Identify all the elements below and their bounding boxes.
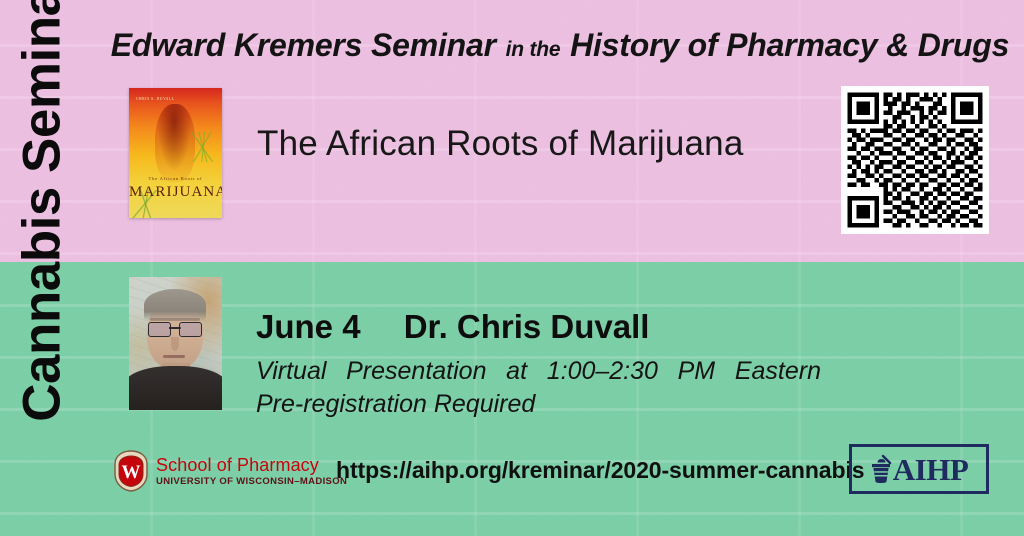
cannabis-leaf-icon bbox=[190, 132, 220, 162]
uw-logo-text: School of Pharmacy UNIVERSITY OF WISCONS… bbox=[156, 456, 347, 487]
eyeglasses-icon bbox=[148, 322, 202, 335]
portrait-hair bbox=[144, 289, 206, 321]
speaker-name: Dr. Chris Duvall bbox=[404, 308, 650, 345]
page-title-connector: in the bbox=[505, 38, 562, 61]
series-vertical-title: Cannabis Seminar bbox=[16, 0, 69, 425]
page-title: Edward Kremers Seminar in the History of… bbox=[100, 27, 1020, 64]
event-detail-line-1: VirtualPresentationat1:00–2:30PMEastern bbox=[256, 357, 821, 386]
uw-crest-letter: W bbox=[122, 462, 141, 483]
event-detail-word-5: Eastern bbox=[735, 357, 821, 386]
book-cover-author: CHRIS S. DUVALL bbox=[136, 97, 175, 101]
event-detail-word-2: at bbox=[506, 357, 527, 386]
talk-title: The African Roots of Marijuana bbox=[257, 124, 744, 164]
glasses-lens-right bbox=[179, 322, 202, 337]
uw-crest-icon: W bbox=[113, 450, 149, 492]
event-detail-word-1: Presentation bbox=[346, 357, 486, 386]
portrait-brow bbox=[150, 318, 200, 321]
qr-code[interactable] bbox=[841, 86, 989, 234]
event-date: June 4 bbox=[256, 308, 361, 345]
book-cover-title: MARIJUANA bbox=[129, 184, 222, 201]
speaker-portrait bbox=[129, 277, 222, 410]
event-detail-word-3: 1:00–2:30 bbox=[547, 357, 658, 386]
page-title-part1: Edward Kremers Seminar bbox=[111, 27, 496, 63]
speaker-headline: June 4 Dr. Chris Duvall bbox=[256, 308, 649, 346]
portrait-shirt bbox=[129, 366, 222, 410]
book-cover-figure bbox=[155, 104, 195, 182]
event-detail-line-2: Pre-registration Required bbox=[256, 390, 535, 419]
event-detail-word-4: PM bbox=[678, 357, 716, 386]
event-detail-word-0: Virtual bbox=[256, 357, 326, 386]
seminar-flyer: Cannabis Seminar Edward Kremers Seminar … bbox=[0, 0, 1024, 536]
book-cover-image: CHRIS S. DUVALL The African Roots of MAR… bbox=[129, 88, 222, 218]
aihp-logo: AIHP bbox=[849, 444, 989, 494]
page-title-part2: History of Pharmacy & Drugs bbox=[570, 27, 1009, 63]
glasses-lens-left bbox=[148, 322, 171, 337]
registration-url[interactable]: https://aihp.org/kreminar/2020-summer-ca… bbox=[336, 457, 864, 484]
aihp-logo-text: AIHP bbox=[893, 454, 969, 485]
portrait-mouth bbox=[163, 355, 185, 358]
mortar-and-pestle-icon bbox=[870, 454, 892, 484]
uw-logo-sub: UNIVERSITY OF WISCONSIN–MADISON bbox=[156, 477, 347, 487]
uw-logo-main: School of Pharmacy bbox=[156, 456, 347, 474]
book-cover-subtitle: The African Roots of bbox=[129, 176, 222, 181]
uw-school-of-pharmacy-logo: W School of Pharmacy UNIVERSITY OF WISCO… bbox=[113, 450, 347, 492]
portrait-nose bbox=[171, 337, 179, 351]
